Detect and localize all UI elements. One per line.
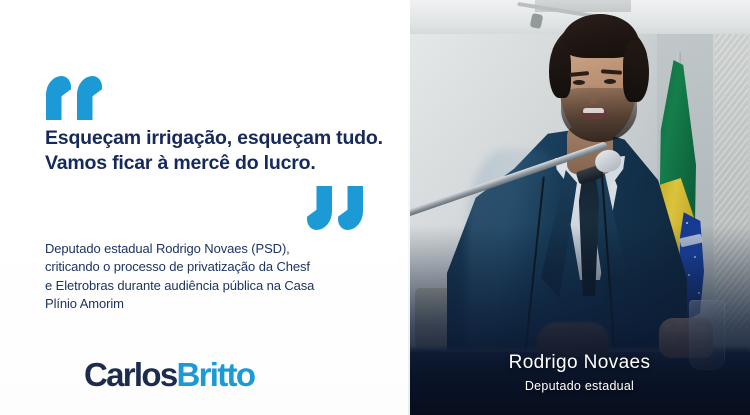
quote-card: Esqueçam irrigação, esqueçam tudo. Vamos… xyxy=(0,0,750,415)
photo-caption: Rodrigo Novaes Deputado estadual xyxy=(409,353,750,393)
attribution-line-3: e Eletrobras durante audiência pública n… xyxy=(45,277,390,295)
close-quote-icon xyxy=(307,186,363,230)
panel-divider xyxy=(408,0,410,415)
close-quote-lobe-right xyxy=(307,186,332,230)
brand-logo-carlos: Carlos xyxy=(84,356,177,393)
speaker-photo: Rodrigo Novaes Deputado estadual xyxy=(409,0,750,415)
close-quote-lobe-left xyxy=(338,186,363,230)
attribution-line-4: Plínio Amorim xyxy=(45,295,390,313)
brand-logo[interactable]: CarlosBritto xyxy=(84,358,254,391)
quote-line-2: Vamos ficar à mercê do lucro. xyxy=(45,151,385,176)
brand-logo-britto: Britto xyxy=(177,356,255,393)
attribution-text: Deputado estadual Rodrigo Novaes (PSD), … xyxy=(45,240,390,314)
quote-text: Esqueçam irrigação, esqueçam tudo. Vamos… xyxy=(45,126,385,175)
attribution-line-1: Deputado estadual Rodrigo Novaes (PSD), xyxy=(45,240,390,258)
photo-panel: Rodrigo Novaes Deputado estadual xyxy=(409,0,750,415)
quote-line-1: Esqueçam irrigação, esqueçam tudo. xyxy=(45,126,385,151)
caption-role: Deputado estadual xyxy=(409,379,750,393)
attribution-line-2: criticando o processo de privatização da… xyxy=(45,258,390,276)
quote-panel: Esqueçam irrigação, esqueçam tudo. Vamos… xyxy=(0,0,409,415)
open-quote-icon xyxy=(46,76,102,120)
open-quote-lobe-right xyxy=(77,76,102,120)
caption-name: Rodrigo Novaes xyxy=(409,353,750,374)
open-quote-lobe-left xyxy=(46,76,71,120)
